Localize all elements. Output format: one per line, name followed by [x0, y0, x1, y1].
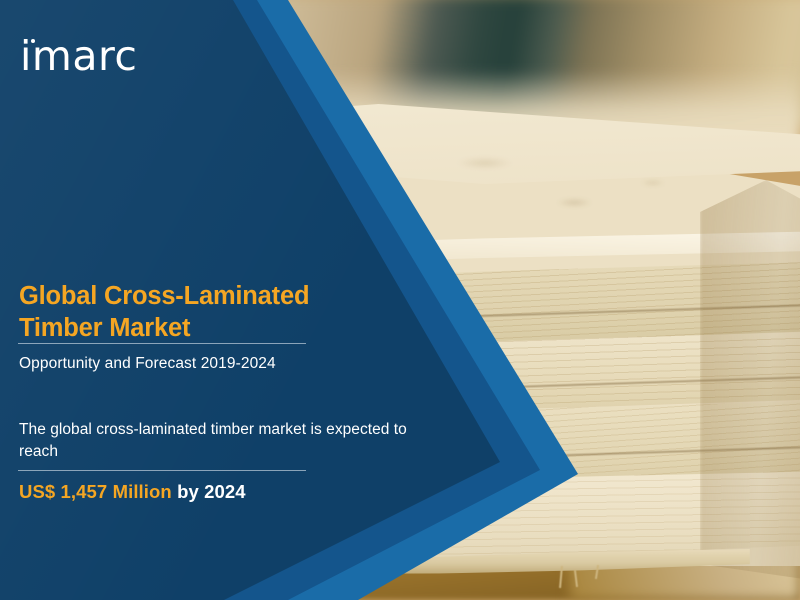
imarc-logo[interactable]: imarc: [20, 26, 170, 78]
market-value-amount: US$ 1,457 Million: [19, 481, 172, 502]
market-value-year: by 2024: [172, 481, 246, 502]
divider-under-title: [18, 343, 306, 344]
report-cover-banner: imarc Global Cross-Laminated Timber Mark…: [0, 0, 800, 600]
lede-statement: The global cross-laminated timber market…: [19, 419, 439, 463]
logo-wordmark: imarc: [20, 36, 137, 77]
divider-above-value: [18, 470, 306, 471]
report-subtitle: Opportunity and Forecast 2019-2024: [19, 355, 399, 373]
cover-content: imarc Global Cross-Laminated Timber Mark…: [0, 0, 800, 600]
title-line-1: Global Cross-Laminated: [19, 282, 309, 310]
title-line-2: Timber Market: [19, 314, 190, 342]
page-title: Global Cross-Laminated Timber Market: [19, 281, 379, 344]
market-value-statement: US$ 1,457 Million by 2024: [19, 481, 419, 503]
